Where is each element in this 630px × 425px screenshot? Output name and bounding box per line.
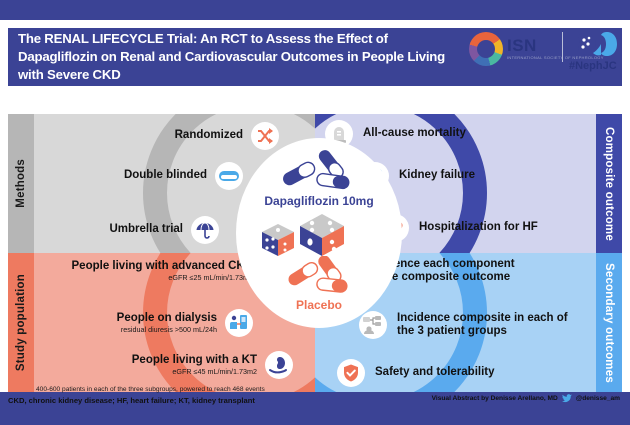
studypop-item-label: People on dialysis residual diuresis >50…: [117, 312, 217, 335]
composite-band-label: Composite outcome: [603, 127, 615, 241]
studypop-item-title: People on dialysis: [117, 312, 217, 324]
composite-item-hospitalization-hf: Hospitalization for HF: [381, 214, 538, 242]
methods-band-label: Methods: [15, 159, 27, 208]
intervention-center: Dapagliflozin 10mg: [236, 138, 402, 328]
methods-band: Methods: [8, 114, 34, 253]
twitter-bird-icon: [562, 394, 572, 403]
group-split-icon: [359, 311, 387, 339]
studypop-item-label: People living with a KT eGFR ≤45 mL/min/…: [132, 354, 257, 377]
composite-item-label: Kidney failure: [399, 169, 475, 182]
shield-check-icon: [337, 359, 365, 387]
secondary-item-label: Incidence composite in each of the 3 pat…: [397, 312, 572, 338]
kidney-pair-icon: [571, 30, 621, 58]
composite-band: Composite outcome: [596, 114, 622, 253]
credit-handle: @denisse_am: [576, 395, 620, 402]
secondary-band: Secondary outcomes: [596, 253, 622, 392]
abbreviations-note: CKD, chronic kidney disease; HF, heart f…: [8, 396, 255, 405]
studypop-item-kidney-transplant: People living with a KT eGFR ≤45 mL/min/…: [132, 351, 293, 379]
studypop-band: Study population: [8, 253, 34, 392]
umbrella-icon: [191, 216, 219, 244]
methods-item-label: Randomized: [175, 129, 243, 142]
secondary-item-incidence-groups: Incidence composite in each of the 3 pat…: [359, 311, 572, 339]
methods-item-umbrella-trial: Umbrella trial: [110, 216, 220, 244]
credit-text: Visual Abstract by Denisse Arellano, MD: [432, 395, 558, 402]
credit-line: Visual Abstract by Denisse Arellano, MD …: [432, 394, 620, 403]
secondary-item-safety: Safety and tolerability: [337, 359, 495, 387]
dice-icon: [258, 210, 382, 262]
composite-item-label: All-cause mortality: [363, 127, 466, 140]
dialysis-chair-icon: [225, 309, 253, 337]
studypop-band-label: Study population: [15, 274, 27, 371]
kidney-transplant-hand-icon: [265, 351, 293, 379]
studypop-item-title: People living with advanced CKD: [72, 260, 253, 272]
nephjc-hashtag: #NephJC: [569, 60, 617, 72]
logo-zone: ISN INTERNATIONAL SOCIETY OF NEPHROLOGY …: [461, 22, 626, 78]
capsules-navy-icon: [236, 150, 402, 190]
studypop-item-title: People living with a KT: [132, 354, 257, 366]
isn-ring-icon: [469, 32, 503, 66]
power-note: 400-600 patients in each of the three su…: [36, 386, 265, 393]
studypop-item-sub: eGFR ≤45 mL/min/1.73m2: [132, 368, 257, 376]
studypop-item-sub: residual diuresis >500 mL/24h: [117, 326, 217, 334]
drug-label: Dapagliflozin 10mg: [236, 194, 402, 208]
studypop-item-sub: eGFR ≤25 mL/min/1.73m2: [72, 274, 253, 282]
visual-abstract-page: The RENAL LIFECYCLE Trial: An RCT to Ass…: [0, 20, 630, 392]
methods-item-randomized: Randomized: [175, 122, 279, 150]
isn-wordmark: ISN: [507, 36, 537, 56]
capsules-coral-icon: [236, 256, 402, 296]
methods-item-double-blinded: Double blinded: [124, 162, 243, 190]
methods-item-label: Umbrella trial: [110, 223, 184, 236]
secondary-item-label: Safety and tolerability: [375, 366, 495, 379]
page-title: The RENAL LIFECYCLE Trial: An RCT to Ass…: [8, 30, 453, 83]
shuffle-arrows-icon: [251, 122, 279, 150]
studypop-item-label: People living with advanced CKD eGFR ≤25…: [72, 260, 253, 283]
placebo-label: Placebo: [236, 298, 402, 312]
secondary-band-label: Secondary outcomes: [603, 263, 615, 383]
logo-divider: [562, 32, 563, 62]
studypop-item-dialysis: People on dialysis residual diuresis >50…: [117, 309, 253, 337]
methods-item-label: Double blinded: [124, 169, 207, 182]
composite-item-label: Hospitalization for HF: [419, 221, 538, 234]
